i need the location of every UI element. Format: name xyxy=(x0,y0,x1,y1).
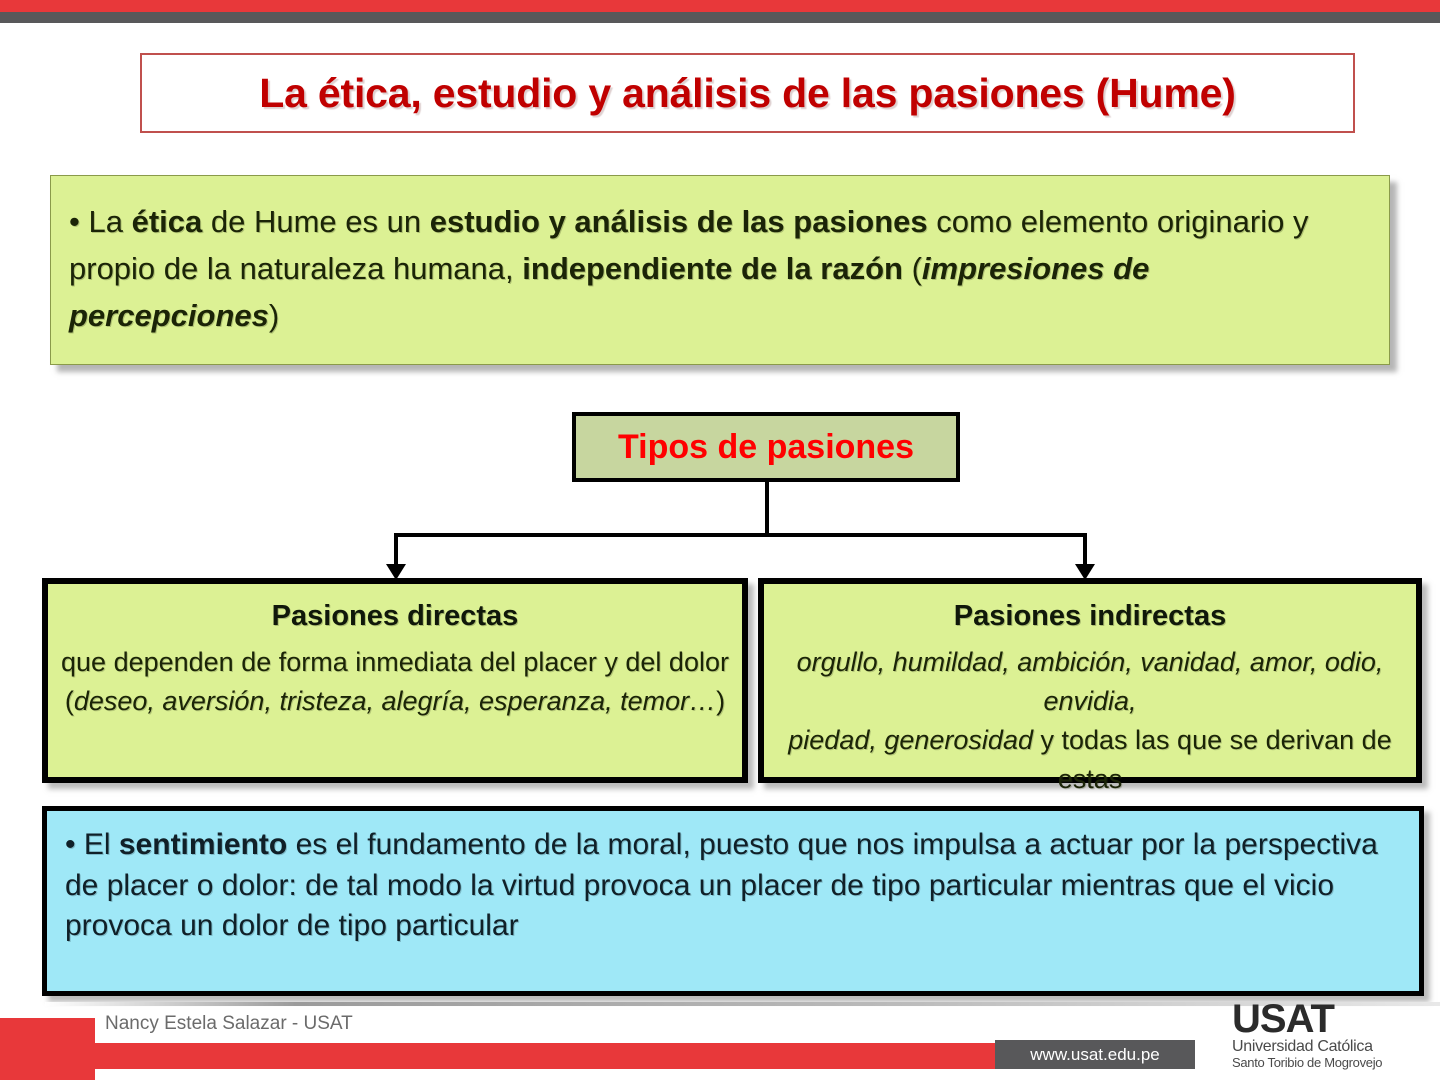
conclusion-bullet: • xyxy=(65,828,76,861)
footer-url-text[interactable]: www.usat.edu.pe xyxy=(1030,1045,1159,1065)
pi-examples-2: piedad, generosidad xyxy=(788,725,1033,755)
footer-divider xyxy=(45,1002,1440,1006)
usat-logo-line-2: Santo Toribio de Mogrovejo xyxy=(1232,1056,1432,1070)
pasiones-indirectas-body: orgullo, humildad, ambición, vanidad, am… xyxy=(764,643,1416,800)
pd-paren-open: ( xyxy=(65,686,74,716)
intro-statement-text: • La ética de Hume es un estudio y análi… xyxy=(69,198,1367,339)
conclusion-seg-2: sentimiento xyxy=(119,828,287,861)
tipos-de-pasiones-box: Tipos de pasiones xyxy=(572,412,960,482)
pasiones-indirectas-line-2: piedad, generosidad y todas las que se d… xyxy=(764,721,1416,799)
footer-url-bar: www.usat.edu.pe xyxy=(995,1040,1195,1069)
pasiones-directas-heading: Pasiones directas xyxy=(48,600,742,633)
intro-seg-2: ética xyxy=(132,204,203,239)
conclusion-box: • El sentimiento es el fundamento de la … xyxy=(42,806,1424,996)
top-red-bar xyxy=(0,0,1440,12)
connector-right-branch-line xyxy=(1083,533,1087,567)
footer-red-block xyxy=(0,1018,95,1080)
slide-title-box: La ética, estudio y análisis de las pasi… xyxy=(140,53,1355,133)
pasiones-indirectas-line-1: orgullo, humildad, ambición, vanidad, am… xyxy=(764,643,1416,721)
pd-paren-close: ) xyxy=(716,686,725,716)
pasiones-directas-line-2: (deseo, aversión, tristeza, alegría, esp… xyxy=(48,682,742,721)
connector-left-branch-line xyxy=(394,533,398,567)
pasiones-directas-line-1: que dependen de forma inmediata del plac… xyxy=(48,643,742,682)
pasiones-directas-box: Pasiones directas que dependen de forma … xyxy=(42,578,748,783)
tipos-de-pasiones-label: Tipos de pasiones xyxy=(618,428,914,467)
pasiones-indirectas-box: Pasiones indirectas orgullo, humildad, a… xyxy=(758,578,1422,783)
usat-logo-mark: USAT xyxy=(1232,1000,1432,1038)
connector-horizontal-line xyxy=(394,533,1087,537)
pasiones-indirectas-heading: Pasiones indirectas xyxy=(764,600,1416,633)
intro-seg-9: ) xyxy=(269,298,279,333)
footer-author: Nancy Estela Salazar - USAT xyxy=(105,1013,353,1035)
top-gray-bar xyxy=(0,12,1440,23)
pi-rest: y todas las que se derivan de estas xyxy=(1033,725,1392,794)
intro-seg-6: independiente de la razón xyxy=(522,251,903,286)
intro-bullet: • xyxy=(69,204,80,239)
page-title: La ética, estudio y análisis de las pasi… xyxy=(259,70,1235,117)
intro-seg-3: de Hume es un xyxy=(202,204,429,239)
pi-examples-1: orgullo, humildad, ambición, vanidad, am… xyxy=(797,647,1384,716)
pasiones-directas-body: que dependen de forma inmediata del plac… xyxy=(48,643,742,721)
connector-trunk-line xyxy=(765,482,769,536)
intro-seg-7: ( xyxy=(903,251,922,286)
intro-statement-box: • La ética de Hume es un estudio y análi… xyxy=(50,175,1390,365)
usat-logo: USAT Universidad Católica Santo Toribio … xyxy=(1232,1000,1432,1070)
conclusion-text: • El sentimiento es el fundamento de la … xyxy=(65,825,1401,947)
intro-seg-1: La xyxy=(88,204,131,239)
conclusion-seg-1: El xyxy=(84,828,119,861)
intro-seg-4: estudio y análisis de las pasiones xyxy=(430,204,928,239)
usat-logo-line-1: Universidad Católica xyxy=(1232,1038,1432,1056)
pd-examples: deseo, aversión, tristeza, alegría, espe… xyxy=(74,686,716,716)
footer-red-bar xyxy=(95,1043,995,1069)
